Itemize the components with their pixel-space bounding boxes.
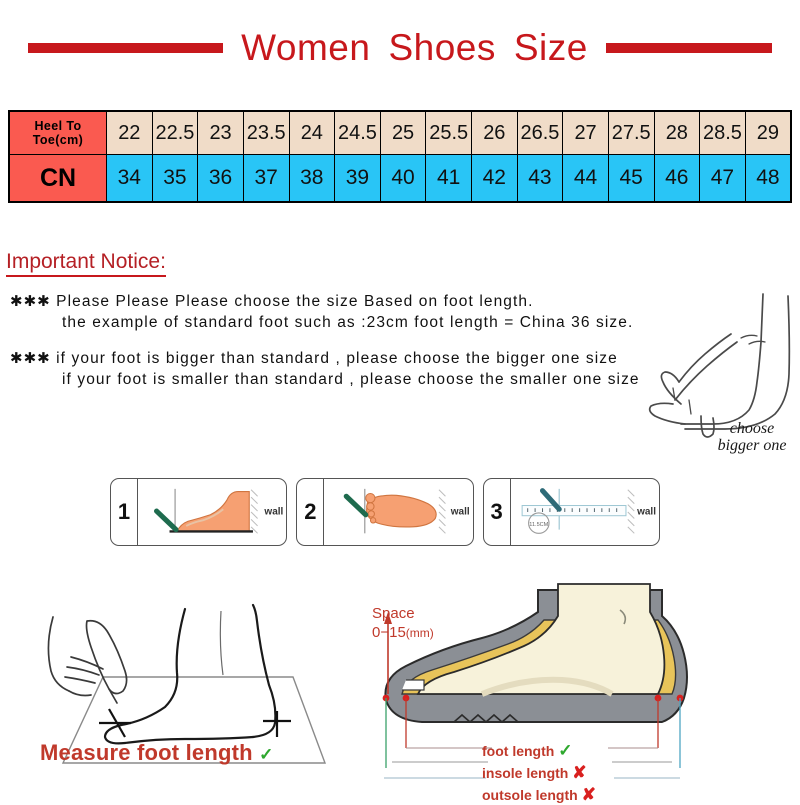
table-row-cn: CN 34 35 36 37 38 39 40 41 42 43 44 45 4… [9,155,791,203]
cm-cell: 23.5 [243,111,289,155]
cross-icon: ✘ [572,763,586,782]
title-word-3: Size [514,27,588,68]
cm-cell: 23 [198,111,244,155]
caption-line-1: choose [692,420,800,437]
cm-cell: 28.5 [700,111,746,155]
wall-label: wall [264,507,283,518]
cm-cell: 25 [380,111,426,155]
cn-cell: 40 [380,155,426,203]
title-word-1: Women [241,27,370,68]
cm-cell: 24 [289,111,335,155]
check-icon: ✓ [259,745,273,764]
cm-cell: 26 [472,111,518,155]
check-icon: ✓ [558,741,572,760]
label-text: foot length [482,743,554,759]
cm-cell: 25.5 [426,111,472,155]
notice-line-3: ✱✱✱ if your foot is bigger than standard… [10,349,670,368]
size-conversion-table: Heel To Toe(cm) 22 22.5 23 23.5 24 24.5 … [8,110,792,203]
cm-cell: 22.5 [152,111,198,155]
cn-cell: 41 [426,155,472,203]
cn-cell: 47 [700,155,746,203]
cm-cell: 26.5 [517,111,563,155]
cn-cell: 38 [289,155,335,203]
cn-cell: 46 [654,155,700,203]
space-label-line-2: 0−15(mm) [372,624,434,643]
measure-label-foot-length: foot length ✓ [482,740,596,762]
measurement-steps: 1 wall 2 [110,478,660,546]
label-text: outsole length [482,787,578,803]
measure-label-outsole-length: outsole length ✘ [482,784,596,805]
cm-cell: 22 [107,111,153,155]
cross-icon: ✘ [582,785,596,804]
step-3-illustration: 11.5CM wall [511,479,659,545]
step-number-3: 3 [484,479,511,545]
wall-label: wall [451,507,470,518]
row-label-heel-to-toe: Heel To Toe(cm) [9,111,107,155]
step-number-2: 2 [297,479,324,545]
important-notice-heading: Important Notice: [6,250,166,277]
cn-cell: 48 [745,155,791,203]
cm-cell: 24.5 [335,111,381,155]
notice-line-4: if your foot is smaller than standard , … [10,371,670,389]
notice-text-block: ✱✱✱ Please Please Please choose the size… [10,292,670,392]
cn-cell: 44 [563,155,609,203]
table-row-cm: Heel To Toe(cm) 22 22.5 23 23.5 24 24.5 … [9,111,791,155]
notice-stars: ✱✱✱ [10,293,51,310]
measure-label-insole-length: insole length ✘ [482,762,596,784]
measure-caption-text: Measure foot length [40,740,253,765]
notice-line-2: the example of standard foot such as :23… [10,314,670,332]
label-text: insole length [482,765,568,781]
space-range: 0−15 [372,624,406,641]
step-panel-1: 1 wall [110,478,287,546]
cn-cell: 34 [107,155,153,203]
step-panel-2: 2 wall [296,478,473,546]
length-measure-labels: foot length ✓ insole length ✘ outsole le… [482,740,596,805]
cn-cell: 45 [608,155,654,203]
step-number-1: 1 [111,479,138,545]
cn-cell: 37 [243,155,289,203]
wall-label: wall [637,507,656,518]
cm-cell: 28 [654,111,700,155]
cn-cell: 42 [472,155,518,203]
foot-profile-caption: choose bigger one [692,420,800,455]
title-rule-right [606,43,772,53]
caption-line-2: bigger one [692,437,800,454]
notice-spacer [10,335,670,349]
title-word-2: Shoes [388,27,495,68]
step-2-illustration: wall [324,479,472,545]
cn-cell: 39 [335,155,381,203]
cm-cell: 29 [745,111,791,155]
cm-cell: 27.5 [608,111,654,155]
cn-cell: 43 [517,155,563,203]
space-label: Space 0−15(mm) [372,605,434,643]
cm-cell: 27 [563,111,609,155]
notice-stars: ✱✱✱ [10,350,51,367]
title-rule-left [28,43,223,53]
space-label-line-1: Space [372,605,434,624]
notice-line-1-text: Please Please Please choose the size Bas… [56,293,533,310]
cn-cell: 36 [198,155,244,203]
cn-cell: 35 [152,155,198,203]
space-unit: (mm) [406,626,434,640]
step-1-illustration: wall [138,479,286,545]
step-panel-3: 3 11.5CM [483,478,660,546]
notice-line-3-text: if your foot is bigger than standard , p… [56,350,618,367]
notice-line-1: ✱✱✱ Please Please Please choose the size… [10,292,670,311]
row-label-cn: CN [9,155,107,203]
page-title-bar: WomenShoesSize [0,20,800,76]
measure-foot-length-caption: Measure foot length ✓ [40,740,274,766]
measurement-badge: 11.5CM [529,522,548,528]
page-title: WomenShoesSize [223,27,606,69]
